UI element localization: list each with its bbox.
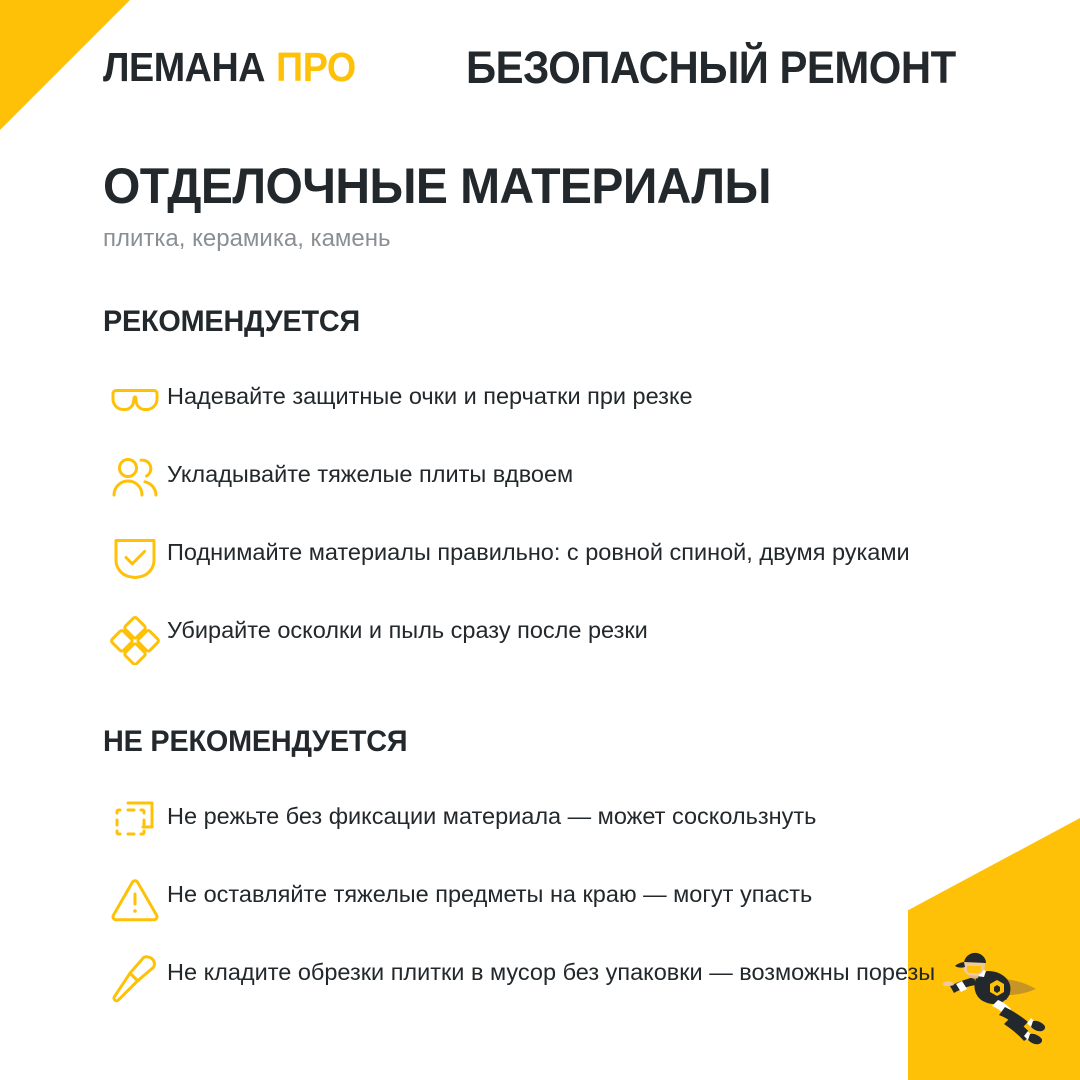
flying-superhero-mascot [912,937,1062,1052]
section-heading-not-recommended: НЕ РЕКОМЕНДУЕТСЯ [103,725,957,759]
warning-triangle-icon [103,875,167,927]
list-item-text: Надевайте защитные очки и перчатки при р… [167,377,957,413]
not-recommended-list: Не режьте без фиксации материала — может… [103,797,993,1005]
poster-header: ЛЕМАНАПРО БЕЗОПАСНЫЙ РЕМОНТ [0,0,1080,130]
page-title: ОТДЕЛОЧНЫЕ МАТЕРИАЛЫ [103,160,957,213]
list-item: Укладывайте тяжелые плиты вдвоем [103,455,993,507]
two-people-icon [103,455,167,507]
logo-text-lemana: ЛЕМАНА [103,44,265,90]
list-item: Поднимайте материалы правильно: с ровной… [103,533,993,585]
knife-icon [103,953,167,1005]
list-item-text: Укладывайте тяжелые плиты вдвоем [167,455,957,491]
four-diamonds-icon [103,611,167,663]
list-item: Убирайте осколки и пыль сразу после резк… [103,611,993,663]
unfixed-square-icon [103,797,167,849]
list-item-text: Не режьте без фиксации материала — может… [167,797,957,833]
list-item: Не режьте без фиксации материала — может… [103,797,993,849]
list-item-text: Убирайте осколки и пыль сразу после резк… [167,611,957,647]
safety-goggles-icon [103,377,167,429]
list-item: Не кладите обрезки плитки в мусор без уп… [103,953,993,1005]
page-subtitle: плитка, керамика, камень [103,225,993,254]
campaign-title: БЕЗОПАСНЫЙ РЕМОНТ [466,45,956,90]
section-heading-recommended: РЕКОМЕНДУЕТСЯ [103,305,957,339]
list-item-text: Не оставляйте тяжелые предметы на краю —… [167,875,957,911]
list-item-text: Не кладите обрезки плитки в мусор без уп… [167,953,957,989]
logo-text-pro: ПРО [276,44,356,90]
poster-content: ОТДЕЛОЧНЫЕ МАТЕРИАЛЫ плитка, керамика, к… [103,160,993,1005]
list-item: Не оставляйте тяжелые предметы на краю —… [103,875,993,927]
list-item-text: Поднимайте материалы правильно: с ровной… [167,533,957,569]
poster-canvas: ЛЕМАНАПРО БЕЗОПАСНЫЙ РЕМОНТ ОТДЕЛОЧНЫЕ М… [0,0,1080,1080]
brand-logo: ЛЕМАНАПРО [103,47,356,88]
recommended-list: Надевайте защитные очки и перчатки при р… [103,377,993,663]
list-item: Надевайте защитные очки и перчатки при р… [103,377,993,429]
shield-check-icon [103,533,167,585]
